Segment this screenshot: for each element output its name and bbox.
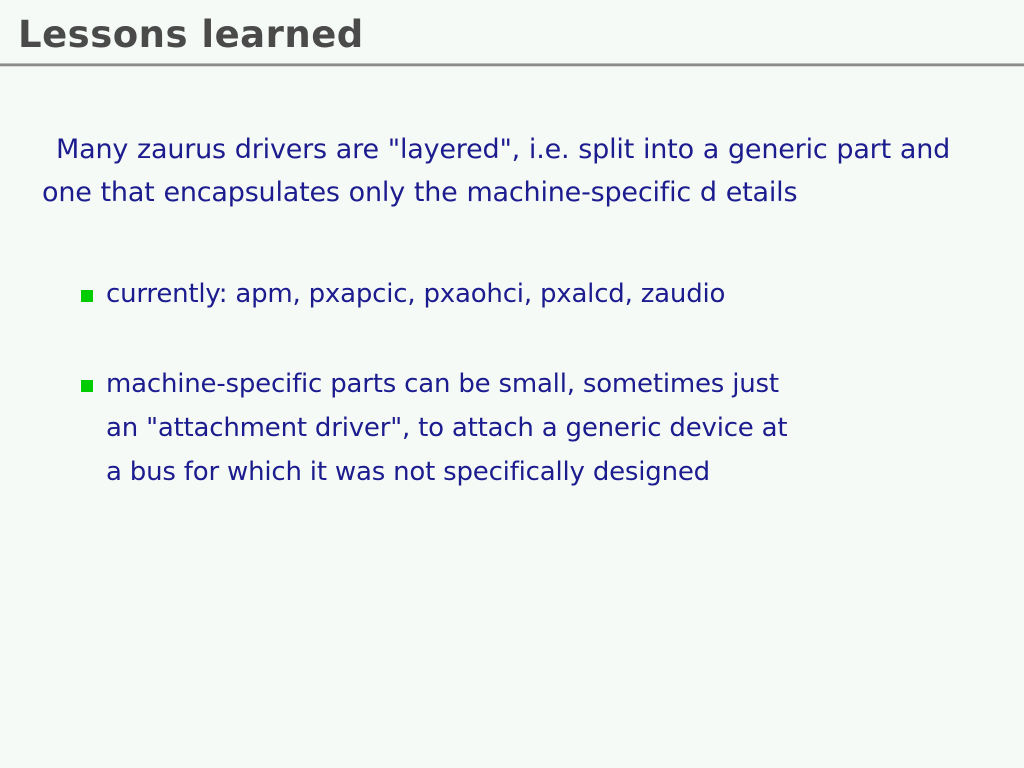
bullet-text-line: a bus for which it was not specifically …	[106, 450, 954, 494]
list-item: machine-specific parts can be small, som…	[0, 362, 1024, 494]
slide-content: Many zaurus drivers are "layered", i.e. …	[0, 128, 1024, 494]
presentation-slide: Lessons learned Many zaurus drivers are …	[0, 0, 1024, 768]
bullet-text-line: machine-specific parts can be small, som…	[106, 362, 954, 406]
square-bullet-icon	[81, 380, 93, 392]
list-item: currently: apm, pxapcic, pxaohci, pxalcd…	[0, 272, 1024, 316]
bullet-text-line: an "attachment driver", to attach a gene…	[106, 406, 954, 450]
page-title: Lessons learned	[18, 14, 364, 57]
bullet-list: currently: apm, pxapcic, pxaohci, pxalcd…	[0, 272, 1024, 494]
intro-paragraph: Many zaurus drivers are "layered", i.e. …	[0, 128, 1024, 214]
bullet-text-line: currently: apm, pxapcic, pxaohci, pxalcd…	[106, 272, 954, 316]
title-divider	[0, 63, 1024, 67]
square-bullet-icon	[81, 290, 93, 302]
